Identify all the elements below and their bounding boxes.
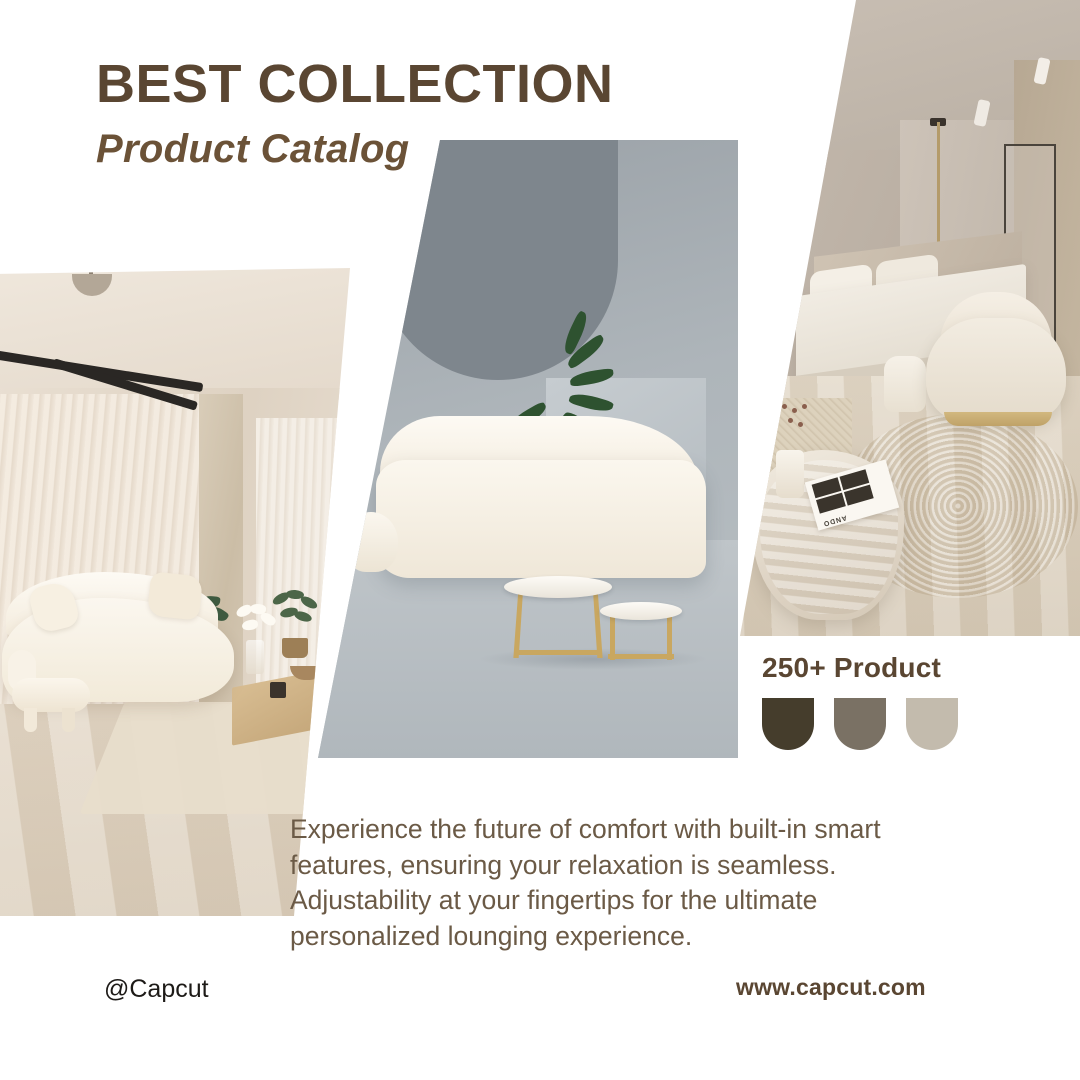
arch-shape xyxy=(378,140,618,380)
coffee-table-large-base xyxy=(514,650,602,655)
description-paragraph: Experience the future of comfort with bu… xyxy=(290,812,958,954)
stool-leg-left xyxy=(24,708,37,732)
bedroom-photo: ANDO xyxy=(718,0,1080,636)
coffee-table-small-base xyxy=(608,654,674,659)
area-rug xyxy=(79,702,366,814)
stool-leg-right xyxy=(62,708,75,732)
studio-curved-sofa xyxy=(376,460,706,578)
coffee-table-large-top xyxy=(504,576,612,598)
dark-cup xyxy=(270,682,286,698)
glass-vase xyxy=(246,640,264,674)
boucle-pouf xyxy=(344,512,398,572)
cushion-right xyxy=(147,571,203,620)
product-catalog-poster: BEST COLLECTION Product Catalog xyxy=(0,0,1080,1080)
page-subtitle: Product Catalog xyxy=(96,127,614,172)
product-count-block: 250+ Product xyxy=(762,652,958,750)
swatch-dark-olive[interactable] xyxy=(762,698,814,750)
swatch-taupe[interactable] xyxy=(834,698,886,750)
ceramic-vase xyxy=(776,450,804,498)
studio-scene xyxy=(318,140,738,760)
coffee-table-large-legs xyxy=(513,590,602,658)
small-ottoman xyxy=(884,356,926,412)
coffee-table-small-top xyxy=(600,602,682,620)
dried-branch xyxy=(778,404,812,454)
social-handle: @Capcut xyxy=(104,975,209,1004)
color-swatch-row xyxy=(762,698,958,750)
boucle-lounge-chair xyxy=(926,318,1066,422)
swatch-light-beige[interactable] xyxy=(906,698,958,750)
product-count-label: 250+ Product xyxy=(762,652,958,684)
terracotta-pot xyxy=(282,638,308,658)
page-title: BEST COLLECTION xyxy=(96,56,614,113)
studio-sofa-photo xyxy=(318,140,738,760)
website-url[interactable]: www.capcut.com xyxy=(736,974,926,1001)
bedroom-scene: ANDO xyxy=(718,0,1080,636)
lounge-chair-brass-base xyxy=(944,412,1052,426)
round-stool xyxy=(12,678,90,712)
poster-header: BEST COLLECTION Product Catalog xyxy=(96,56,614,172)
